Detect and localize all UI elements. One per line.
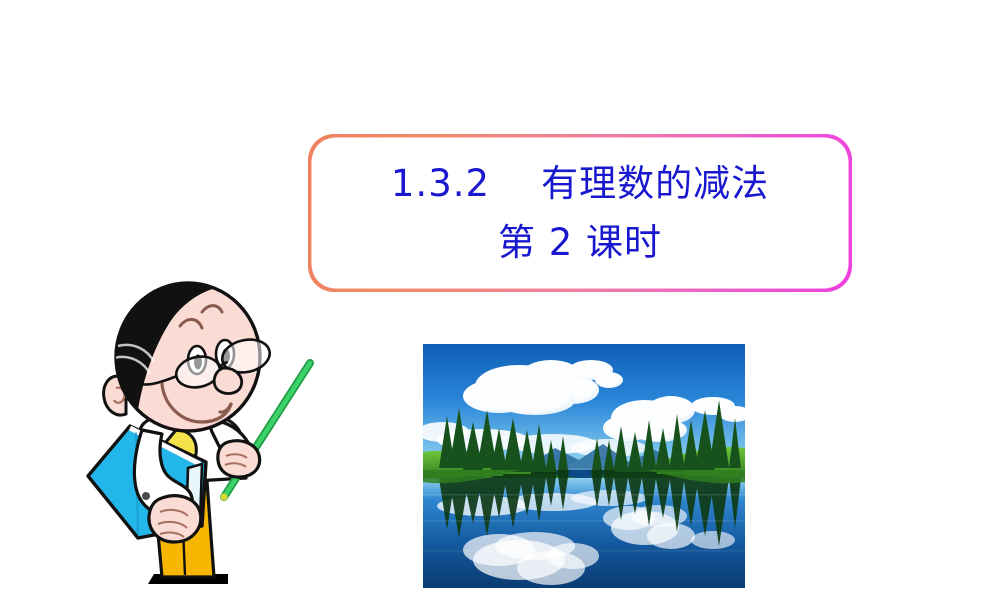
cartoon-teacher [78,272,332,592]
lesson-title-box: 1.3.2 有理数的减法 第 2 课时 [308,134,852,292]
right-hand [218,441,260,477]
lesson-title-line-2: 第 2 课时 [498,219,662,266]
lesson-title-line-1: 1.3.2 有理数的减法 [391,160,769,207]
lake-reflection-photo [423,344,745,588]
nose [214,368,241,393]
left-hand [149,496,201,542]
